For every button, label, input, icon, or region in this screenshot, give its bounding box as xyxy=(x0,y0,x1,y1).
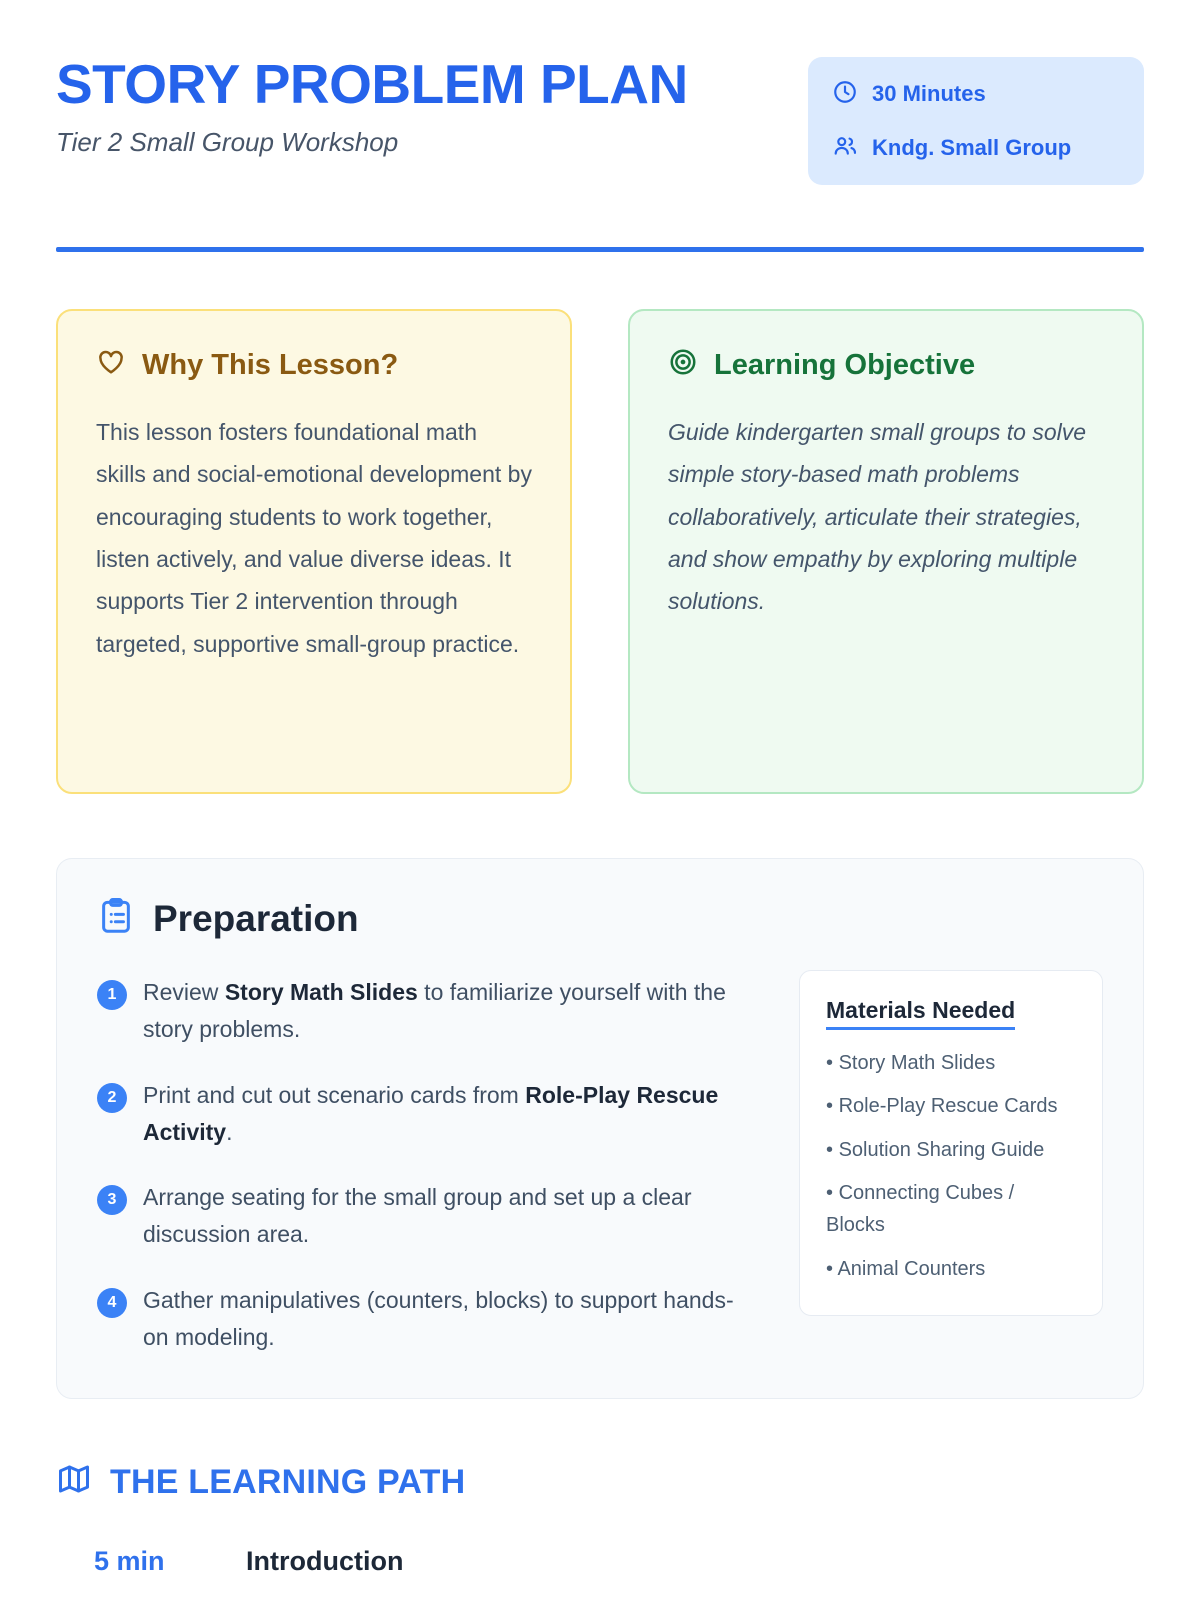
meta-duration-label: 30 Minutes xyxy=(872,83,986,105)
clock-icon xyxy=(832,79,858,109)
step-number-badge: 4 xyxy=(97,1288,127,1318)
why-card-title: Why This Lesson? xyxy=(142,351,398,380)
header-text-block: STORY PROBLEM PLAN Tier 2 Small Group Wo… xyxy=(56,52,688,158)
materials-title: Materials Needed xyxy=(826,997,1015,1030)
preparation-section: Preparation 1 Review Story Math Slides t… xyxy=(56,858,1144,1399)
clipboard-icon xyxy=(97,897,135,940)
step-text: Gather manipulatives (counters, blocks) … xyxy=(143,1282,757,1357)
objective-card-title: Learning Objective xyxy=(714,351,975,380)
meta-audience-label: Kndg. Small Group xyxy=(872,137,1071,159)
why-card-heading: Why This Lesson? xyxy=(96,347,532,383)
step-text: Arrange seating for the small group and … xyxy=(143,1179,757,1254)
page-header: STORY PROBLEM PLAN Tier 2 Small Group Wo… xyxy=(56,52,1144,185)
path-row-label: Introduction xyxy=(246,1546,403,1577)
lesson-meta-badge: 30 Minutes Kndg. Small Group xyxy=(808,57,1144,185)
learning-path-section: THE LEARNING PATH 5 min Introduction xyxy=(56,1461,1144,1577)
step-number-badge: 2 xyxy=(97,1083,127,1113)
learning-path-heading: THE LEARNING PATH xyxy=(56,1461,1144,1502)
objective-card-body: Guide kindergarten small groups to solve… xyxy=(668,411,1104,623)
map-icon xyxy=(56,1461,92,1502)
why-card-body: This lesson fosters foundational math sk… xyxy=(96,411,532,665)
why-this-lesson-card: Why This Lesson? This lesson fosters fou… xyxy=(56,309,572,794)
preparation-title: Preparation xyxy=(153,900,359,937)
step-text: Print and cut out scenario cards from Ro… xyxy=(143,1077,757,1152)
preparation-columns: 1 Review Story Math Slides to familiariz… xyxy=(97,970,1103,1356)
materials-needed-box: Materials Needed • Story Math Slides • R… xyxy=(799,970,1103,1316)
info-cards-row: Why This Lesson? This lesson fosters fou… xyxy=(56,309,1144,794)
objective-card-heading: Learning Objective xyxy=(668,347,1104,383)
bullet-icon: • xyxy=(826,1182,833,1204)
target-icon xyxy=(668,347,698,383)
page-subtitle: Tier 2 Small Group Workshop xyxy=(56,127,688,158)
meta-audience-row: Kndg. Small Group xyxy=(832,133,1118,163)
path-row-time: 5 min xyxy=(94,1546,190,1577)
meta-duration-row: 30 Minutes xyxy=(832,79,1118,109)
bullet-icon: • xyxy=(826,1052,833,1074)
header-divider xyxy=(56,247,1144,252)
users-icon xyxy=(832,133,858,163)
preparation-heading: Preparation xyxy=(97,897,1103,940)
preparation-step: 3 Arrange seating for the small group an… xyxy=(97,1179,757,1254)
preparation-step: 1 Review Story Math Slides to familiariz… xyxy=(97,974,757,1049)
material-item: • Story Math Slides xyxy=(826,1048,1076,1080)
preparation-step: 2 Print and cut out scenario cards from … xyxy=(97,1077,757,1152)
material-item: • Connecting Cubes / Blocks xyxy=(826,1178,1076,1241)
learning-path-row: 5 min Introduction xyxy=(56,1546,1144,1577)
heart-icon xyxy=(96,347,126,383)
preparation-steps-list: 1 Review Story Math Slides to familiariz… xyxy=(97,970,757,1356)
bullet-icon: • xyxy=(826,1139,833,1161)
lesson-plan-page: STORY PROBLEM PLAN Tier 2 Small Group Wo… xyxy=(0,0,1200,1600)
bullet-icon: • xyxy=(826,1095,833,1117)
step-number-badge: 1 xyxy=(97,980,127,1010)
material-item: • Animal Counters xyxy=(826,1254,1076,1286)
material-item: • Role-Play Rescue Cards xyxy=(826,1091,1076,1123)
learning-objective-card: Learning Objective Guide kindergarten sm… xyxy=(628,309,1144,794)
step-number-badge: 3 xyxy=(97,1185,127,1215)
page-title: STORY PROBLEM PLAN xyxy=(56,56,688,113)
preparation-step: 4 Gather manipulatives (counters, blocks… xyxy=(97,1282,757,1357)
bullet-icon: • xyxy=(826,1258,833,1280)
learning-path-title: THE LEARNING PATH xyxy=(110,1465,465,1499)
material-item: • Solution Sharing Guide xyxy=(826,1135,1076,1167)
step-text: Review Story Math Slides to familiarize … xyxy=(143,974,757,1049)
